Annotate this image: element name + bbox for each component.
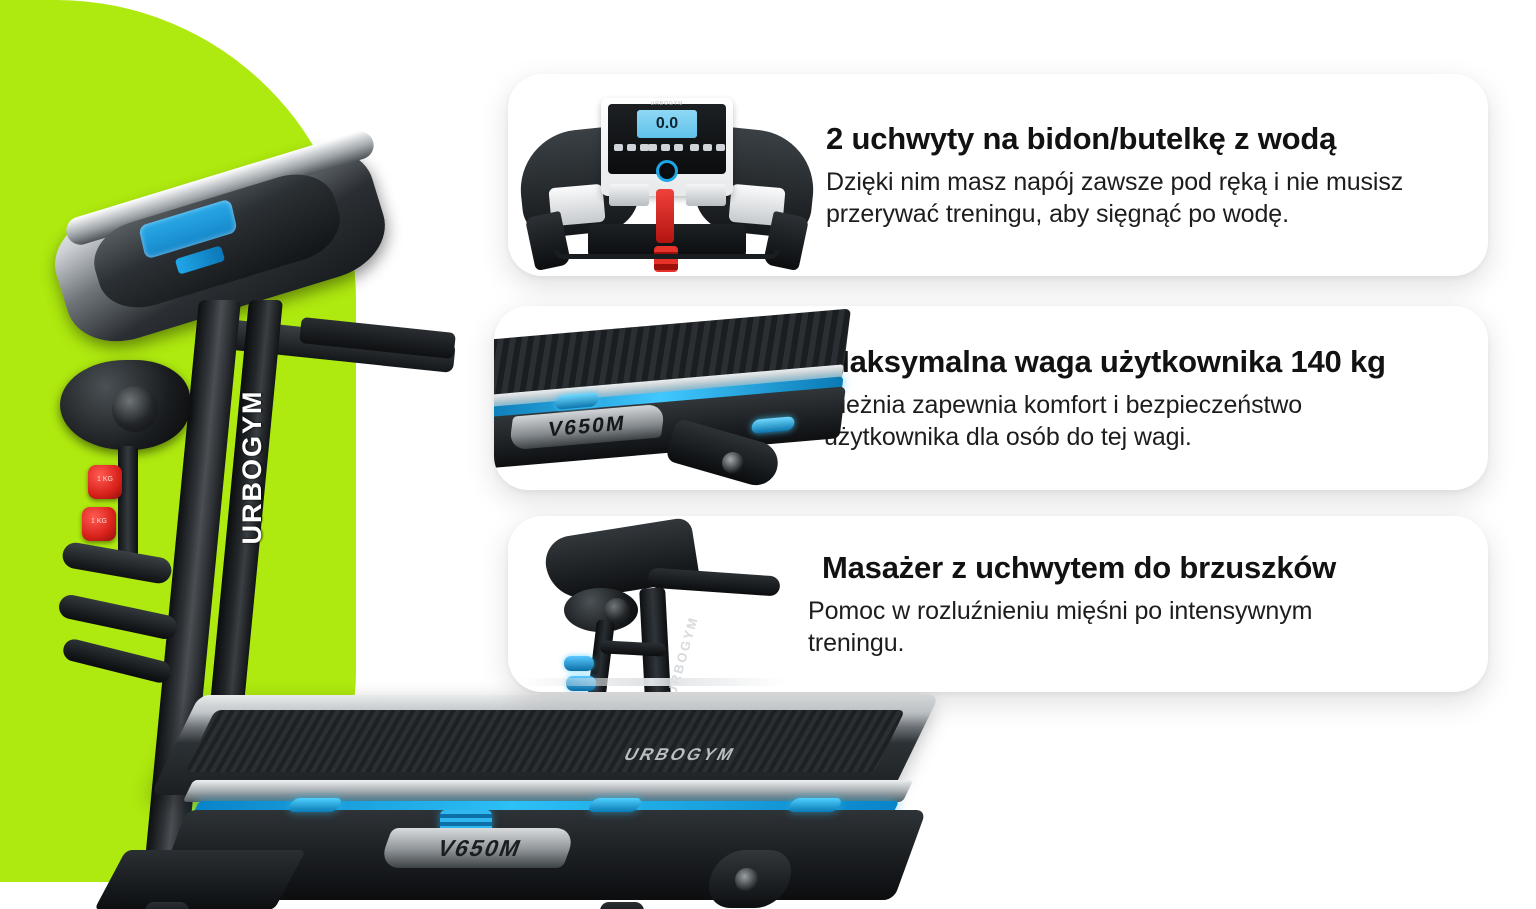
feature-description: Dzięki nim masz napój zawsze pod ręką i … (826, 166, 1416, 230)
treadmill-foot-pad-front (145, 902, 189, 909)
dumbbell-weight-label: 1 KG (88, 476, 122, 483)
feature-card-max-user-weight: V650M Maksymalna waga użytkownika 140 kg… (494, 306, 1488, 490)
feature-text-block: Maksymalna waga użytkownika 140 kg Bieżn… (824, 344, 1488, 453)
console-button (703, 144, 712, 151)
feature-text-block: Masażer z uchwytem do brzuszków Pomoc w … (808, 550, 1488, 659)
console-button (674, 144, 683, 151)
model-plate-label: V650M (385, 833, 576, 863)
massager-blue-fitting-upper (564, 656, 594, 671)
deck-clip-2 (587, 798, 644, 812)
console-button (627, 144, 636, 151)
console-dial (656, 160, 678, 182)
treadmill-front-base (94, 850, 306, 909)
treadmill-foot-pad-rear (600, 902, 644, 909)
deck-model-label: V650M (547, 412, 628, 443)
feature-title: Maksymalna waga użytkownika 140 kg (824, 344, 1454, 380)
massager-stem-art (118, 446, 138, 566)
console-lcd-screen: 0.0 (637, 110, 697, 138)
feature-description: Bieżnia zapewnia komfort i bezpieczeństw… (824, 389, 1424, 453)
dumbbell-upper: 1 KG (88, 465, 122, 499)
safety-key-red (656, 189, 674, 243)
infographic-page: URBOGYM 1 KG 1 KG URBOGYM V650M (0, 0, 1536, 909)
console-button (648, 144, 657, 151)
feature-description: Pomoc w rozluźnieniu mięśni po intensywn… (808, 595, 1408, 659)
massager-back-pad (542, 517, 700, 604)
console-button-row-right (690, 144, 725, 151)
console-button (614, 144, 623, 151)
treadmill-running-belt (185, 710, 905, 772)
feature-image-console: URBOGYM 0.0 (508, 74, 826, 276)
console-button-row-center (648, 144, 683, 151)
feature-card-massager: URBOGYM Masażer z uchwytem do brzuszków … (508, 516, 1488, 692)
console-lcd-value: 0.0 (656, 115, 678, 133)
console-cup-slot-right (686, 184, 726, 206)
feature-image-massager: URBOGYM (508, 516, 808, 692)
dumbbell-lower: 1 KG (82, 507, 116, 541)
feature-title: 2 uchwyty na bidon/butelkę z wodą (826, 121, 1454, 157)
upright-brand-label: URBOGYM (235, 367, 269, 567)
accessory-bar-2 (57, 593, 179, 641)
deck-clip-1 (287, 798, 344, 812)
feature-card-bottle-holders: URBOGYM 0.0 (508, 74, 1488, 276)
massager-floor-shadow (518, 678, 786, 686)
deck-brand-label: URBOGYM (584, 742, 777, 768)
console-cup-slot-left (609, 184, 649, 206)
feature-text-block: 2 uchwyty na bidon/butelkę z wodą Dzięki… (826, 121, 1488, 230)
deck-clip-3 (787, 798, 844, 812)
feature-title: Masażer z uchwytem do brzuszków (808, 550, 1454, 586)
console-brand-label: URBOGYM (637, 101, 697, 107)
console-button-row-left (614, 144, 649, 151)
massager-ab-handle (647, 567, 780, 596)
dumbbell-weight-label: 1 KG (82, 518, 116, 525)
console-button (716, 144, 725, 151)
console-lower-bar (554, 250, 780, 259)
console-button (661, 144, 670, 151)
deck-hinge-hole (722, 452, 744, 474)
massager-knob-art (112, 386, 158, 432)
deck-roller-hole (735, 868, 759, 892)
console-button (690, 144, 699, 151)
accessory-bar-3 (61, 637, 173, 685)
feature-image-deck: V650M (494, 306, 824, 490)
accessory-bar-1 (61, 541, 174, 586)
